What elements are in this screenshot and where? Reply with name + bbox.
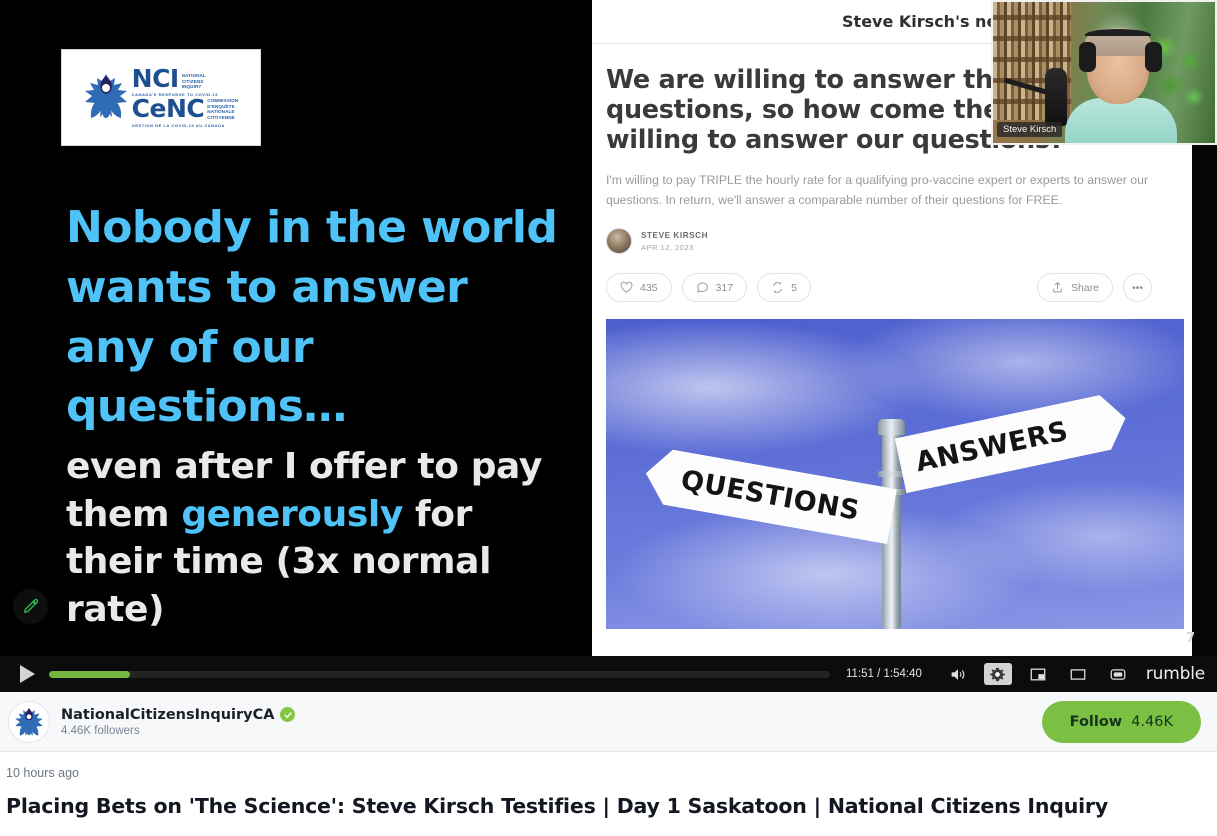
webcam-name-label: Steve Kirsch bbox=[997, 122, 1062, 137]
newsletter-byline: STEVE KIRSCH APR 12, 2023 bbox=[606, 228, 1170, 254]
speaker-torso bbox=[1065, 98, 1177, 145]
edit-annotation-button[interactable] bbox=[13, 589, 48, 624]
heart-icon bbox=[620, 281, 633, 294]
slide-left-panel: NCI NATIONAL CITIZENS INQUIRY CANADA'S R… bbox=[0, 0, 592, 656]
comment-icon bbox=[696, 281, 709, 294]
channel-avatar[interactable] bbox=[8, 701, 50, 743]
questions-sign: QUESTIONS bbox=[641, 446, 897, 545]
volume-icon bbox=[948, 666, 968, 683]
slide-page-number: 7 bbox=[1186, 631, 1195, 646]
share-icon bbox=[1051, 281, 1064, 294]
webcam-overlay: Steve Kirsch bbox=[991, 0, 1217, 145]
video-player[interactable]: NCI NATIONAL CITIZENS INQUIRY CANADA'S R… bbox=[0, 0, 1217, 692]
picture-in-picture-button[interactable] bbox=[1024, 663, 1052, 685]
rumble-logo[interactable]: rumble bbox=[1146, 664, 1205, 684]
verified-badge-icon bbox=[280, 707, 295, 722]
progress-fill bbox=[49, 671, 130, 678]
like-button[interactable]: 435 bbox=[606, 273, 672, 302]
nci-cenc-logo: NCI NATIONAL CITIZENS INQUIRY CANADA'S R… bbox=[61, 49, 261, 146]
restack-button[interactable]: 5 bbox=[757, 273, 811, 302]
settings-button[interactable] bbox=[984, 663, 1012, 685]
newsletter-subtitle: I'm willing to pay TRIPLE the hourly rat… bbox=[606, 171, 1158, 211]
follow-count: 4.46K bbox=[1131, 714, 1173, 730]
signpost-image: ANSWERS QUESTIONS bbox=[606, 319, 1184, 629]
nci-maple-leaf-icon bbox=[13, 705, 45, 739]
logo-tagline-fr: GESTION DE LA COVID-19 AU CANADA bbox=[132, 123, 239, 128]
slide-body-emphasis: generously bbox=[181, 494, 403, 535]
published-ago: 10 hours ago bbox=[6, 766, 1207, 780]
headphone-right-cup bbox=[1145, 42, 1162, 72]
theater-mode-icon bbox=[1068, 666, 1088, 683]
settings-gear-icon bbox=[989, 666, 1006, 683]
follower-count: 4.46K followers bbox=[61, 725, 295, 737]
author-name: STEVE KIRSCH bbox=[641, 231, 708, 240]
more-options-button[interactable]: ••• bbox=[1123, 273, 1152, 302]
author-avatar bbox=[606, 228, 632, 254]
microphone bbox=[1045, 68, 1067, 126]
follow-button[interactable]: Follow 4.46K bbox=[1042, 701, 1201, 743]
share-label: Share bbox=[1071, 282, 1099, 294]
comment-button[interactable]: 317 bbox=[682, 273, 748, 302]
engagement-bar: 435 317 bbox=[606, 273, 1170, 302]
like-count: 435 bbox=[640, 282, 658, 294]
headphone-left-cup bbox=[1079, 42, 1096, 72]
fullscreen-button[interactable] bbox=[1104, 663, 1132, 685]
nci-maple-leaf-icon bbox=[84, 72, 128, 124]
channel-row: NationalCitizensInquiryCA 4.46K follower… bbox=[0, 692, 1217, 752]
slide-text-block: Nobody in the world wants to answer any … bbox=[66, 198, 566, 633]
publish-date: APR 12, 2023 bbox=[641, 243, 708, 252]
checkmark-icon bbox=[283, 710, 293, 720]
logo-acronym-en: NCI bbox=[132, 68, 179, 91]
restack-count: 5 bbox=[791, 282, 797, 294]
play-button[interactable] bbox=[20, 665, 35, 683]
follow-label: Follow bbox=[1070, 714, 1123, 730]
answers-sign: ANSWERS bbox=[895, 391, 1132, 494]
video-title: Placing Bets on 'The Science': Steve Kir… bbox=[6, 794, 1207, 818]
volume-button[interactable] bbox=[944, 663, 972, 685]
signpost-ring-upper bbox=[878, 471, 905, 477]
video-info-section: 10 hours ago Placing Bets on 'The Scienc… bbox=[0, 752, 1217, 818]
share-button[interactable]: Share bbox=[1037, 273, 1113, 302]
progress-scrubber[interactable] bbox=[49, 671, 830, 678]
picture-in-picture-icon bbox=[1028, 666, 1048, 683]
video-stage[interactable]: NCI NATIONAL CITIZENS INQUIRY CANADA'S R… bbox=[0, 0, 1217, 656]
logo-words-en: NATIONAL CITIZENS INQUIRY bbox=[182, 73, 206, 90]
headphone-band bbox=[1085, 29, 1151, 41]
signpost-cap bbox=[878, 419, 905, 435]
slide-headline: Nobody in the world wants to answer any … bbox=[66, 202, 557, 432]
slide-body: even after I offer to pay them generousl… bbox=[66, 443, 566, 633]
pencil-icon bbox=[22, 598, 39, 615]
player-controls[interactable]: 11:51 / 1:54:40 bbox=[0, 656, 1217, 692]
theater-mode-button[interactable] bbox=[1064, 663, 1092, 685]
comment-count: 317 bbox=[716, 282, 734, 294]
fullscreen-icon bbox=[1108, 666, 1128, 683]
timecode-display: 11:51 / 1:54:40 bbox=[846, 668, 922, 680]
logo-acronym-fr: CeNC bbox=[132, 98, 205, 121]
restack-icon bbox=[771, 281, 784, 294]
logo-words-fr: COMMISSION D'ENQUÊTE NATIONALE CITOYENNE bbox=[207, 98, 238, 120]
channel-name[interactable]: NationalCitizensInquiryCA bbox=[61, 707, 274, 723]
ellipsis-icon: ••• bbox=[1132, 282, 1143, 294]
